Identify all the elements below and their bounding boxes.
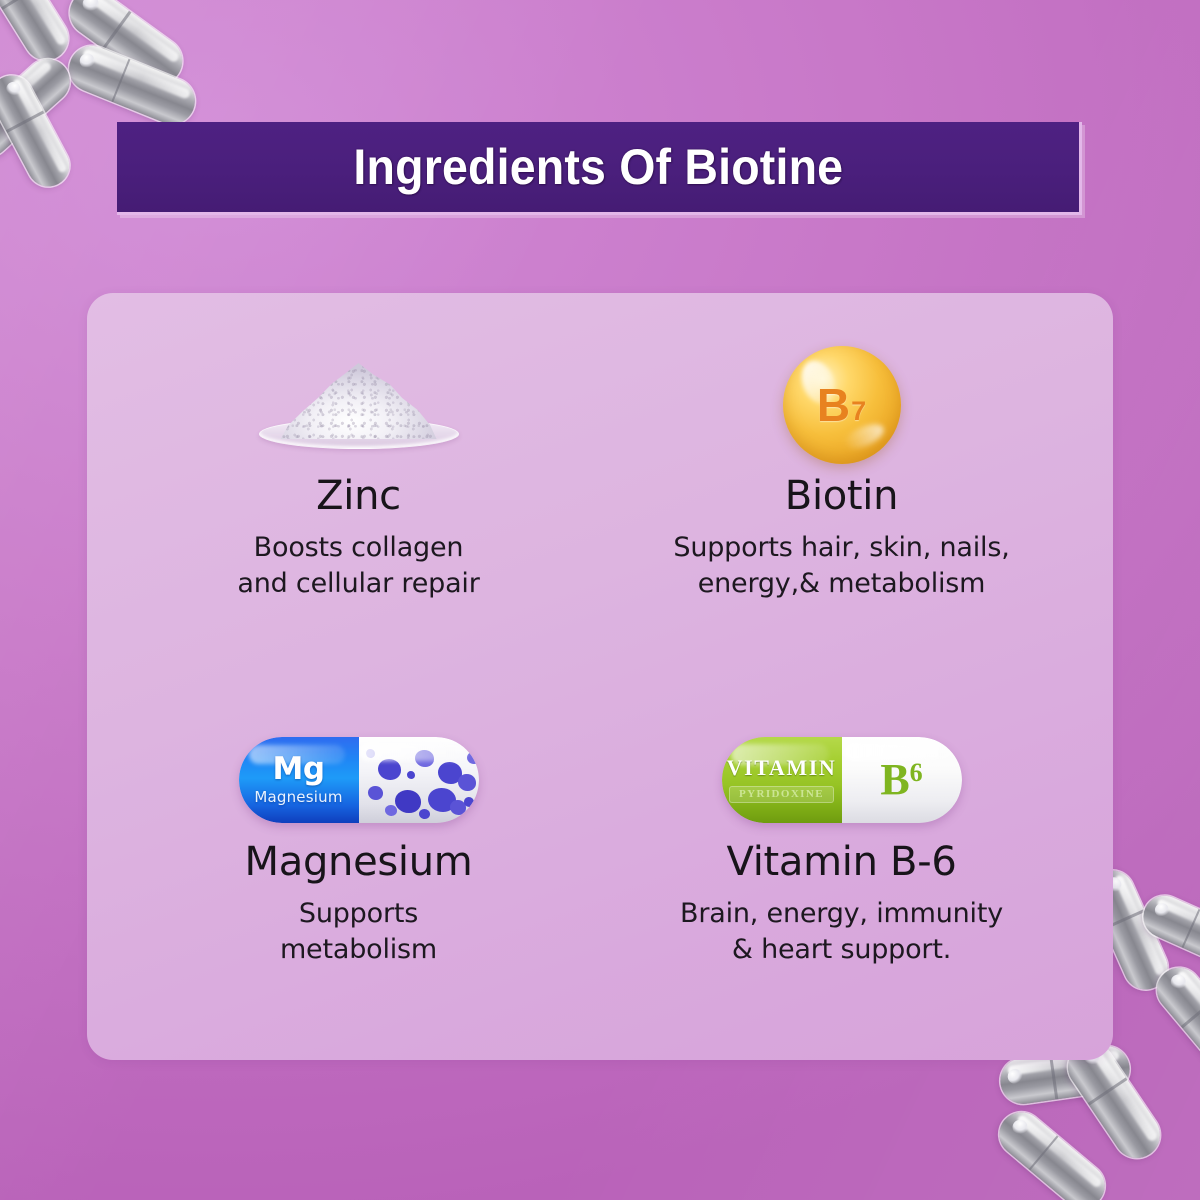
magnesium-icon-wrapper: Mg Magnesium <box>239 725 479 835</box>
biotin-icon-wrapper: B7 <box>783 341 901 469</box>
granule <box>464 797 474 807</box>
description-line-1: Supports <box>280 896 437 932</box>
capsule-left-half: Mg Magnesium <box>239 737 359 823</box>
ingredient-name: Biotin <box>785 475 898 518</box>
granule <box>368 786 383 800</box>
description-line-2: energy,& metabolism <box>673 566 1009 602</box>
b6-letter: B <box>880 758 909 802</box>
description-line-2: & heart support. <box>680 932 1003 968</box>
ingredient-name: Magnesium <box>245 841 473 884</box>
ingredient-description: Supports hair, skin, nails, energy,& met… <box>673 530 1009 602</box>
ingredient-description: Boosts collagen and cellular repair <box>237 530 479 602</box>
ingredient-item-biotin[interactable]: B7 Biotin Supports hair, skin, nails, en… <box>600 315 1083 673</box>
capsule-word: Magnesium <box>254 788 342 806</box>
granule <box>366 749 375 758</box>
ingredient-item-magnesium[interactable]: Mg Magnesium <box>117 673 600 1031</box>
ingredient-name: Vitamin B-6 <box>727 841 957 884</box>
powder-grain-texture <box>281 363 437 439</box>
capsule-subword: PYRIDOXINE <box>729 786 834 803</box>
granule <box>385 805 397 816</box>
b7-label: B7 <box>817 382 866 428</box>
granule <box>407 771 415 779</box>
ingredient-item-zinc[interactable]: Zinc Boosts collagen and cellular repair <box>117 315 600 673</box>
b7-letter: B <box>817 382 850 428</box>
capsule-word: VITAMIN <box>727 757 837 779</box>
page-title: Ingredients Of Biotine <box>353 138 843 196</box>
granule <box>415 750 434 767</box>
description-line-1: Boosts collagen <box>237 530 479 566</box>
capsule-right-half <box>359 737 479 823</box>
description-line-2: and cellular repair <box>237 566 479 602</box>
vitamin-b6-capsule-icon: VITAMIN PYRIDOXINE B6 <box>722 737 962 823</box>
ingredient-description: Brain, energy, immunity & heart support. <box>680 896 1003 968</box>
zinc-icon-wrapper <box>259 341 459 469</box>
granule <box>395 790 421 813</box>
magnesium-capsule-icon: Mg Magnesium <box>239 737 479 823</box>
description-line-1: Brain, energy, immunity <box>680 896 1003 932</box>
b6-label: B6 <box>880 758 922 802</box>
ingredient-name: Zinc <box>316 475 401 518</box>
capsule-symbol: Mg <box>272 754 324 785</box>
description-line-1: Supports hair, skin, nails, <box>673 530 1009 566</box>
ingredient-description: Supports metabolism <box>280 896 437 968</box>
granule <box>458 774 476 791</box>
granule <box>467 752 479 764</box>
title-banner: Ingredients Of Biotine <box>117 122 1082 215</box>
granule <box>419 809 430 819</box>
ingredient-item-vitamin-b6[interactable]: VITAMIN PYRIDOXINE B6 Vitamin B-6 Brain,… <box>600 673 1083 1031</box>
capsule-left-half: VITAMIN PYRIDOXINE <box>722 737 842 823</box>
capsule-right-half: B6 <box>842 737 962 823</box>
ingredients-card: Zinc Boosts collagen and cellular repair… <box>87 293 1113 1060</box>
description-line-2: metabolism <box>280 932 437 968</box>
b7-gold-softgel-icon: B7 <box>783 346 901 464</box>
granule <box>378 759 401 780</box>
b7-number: 7 <box>851 398 866 425</box>
b6-number: 6 <box>910 760 923 786</box>
ingredients-grid: Zinc Boosts collagen and cellular repair… <box>87 293 1113 1060</box>
zinc-powder-dish-icon <box>259 359 459 451</box>
vitamin-b6-icon-wrapper: VITAMIN PYRIDOXINE B6 <box>722 725 962 835</box>
